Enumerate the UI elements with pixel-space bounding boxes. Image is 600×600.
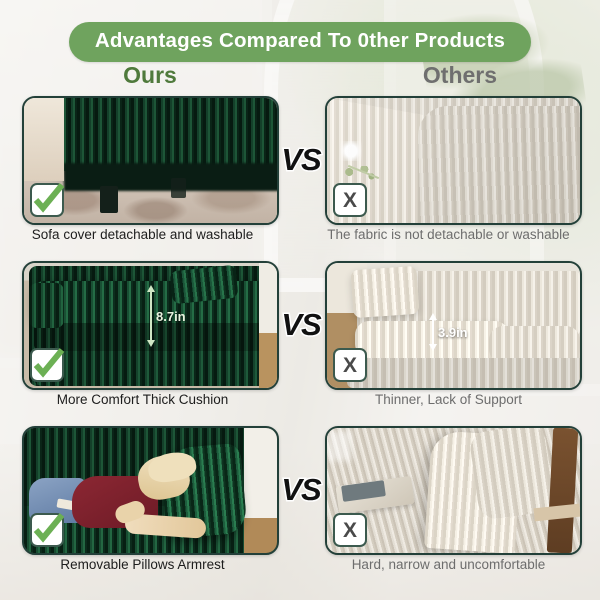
vs-divider: VS xyxy=(278,466,324,512)
ours-image-card xyxy=(22,426,279,555)
vs-label: VS xyxy=(281,309,320,340)
others-image-card: X xyxy=(325,426,582,555)
check-badge xyxy=(30,513,64,547)
column-header-ours: Ours xyxy=(60,62,240,89)
measurement-label: 3.9in xyxy=(438,325,468,340)
vs-label: VS xyxy=(281,474,320,505)
measurement-label: 8.7in xyxy=(156,309,186,324)
ours-caption: More Comfort Thick Cushion xyxy=(16,392,269,408)
check-icon xyxy=(32,350,62,380)
others-image-card: X xyxy=(325,96,582,225)
ours-caption: Sofa cover detachable and washable xyxy=(16,227,269,243)
measurement-ours: 8.7in xyxy=(150,285,186,347)
column-header-others: Others xyxy=(370,62,550,89)
ours-image-card: 8.7in xyxy=(22,261,279,390)
ours-caption: Removable Pillows Armrest xyxy=(16,557,269,573)
check-icon xyxy=(32,515,62,545)
measure-arrow-icon xyxy=(150,285,152,347)
column-headers: Ours Others xyxy=(0,62,600,96)
x-icon: X xyxy=(343,520,357,541)
x-icon: X xyxy=(343,355,357,376)
measurement-others: 3.9in xyxy=(432,313,468,351)
cross-badge: X xyxy=(333,348,367,382)
measure-arrow-icon xyxy=(432,313,434,351)
title-banner: Advantages Compared To 0ther Products xyxy=(69,22,531,62)
vs-label: VS xyxy=(281,144,320,175)
check-badge xyxy=(30,183,64,217)
x-icon: X xyxy=(343,190,357,211)
vs-divider: VS xyxy=(278,136,324,182)
comparison-row: VS X Removable Pillows Armrest Hard, nar… xyxy=(0,426,600,591)
others-caption: The fabric is not detachable or washable xyxy=(322,227,575,243)
others-caption: Thinner, Lack of Support xyxy=(322,392,575,408)
title-banner-wrap: Advantages Compared To 0ther Products xyxy=(0,22,600,62)
vs-divider: VS xyxy=(278,301,324,347)
cross-badge: X xyxy=(333,513,367,547)
comparison-row: 8.7in VS xyxy=(0,261,600,426)
check-badge xyxy=(30,348,64,382)
check-icon xyxy=(32,185,62,215)
ours-image-card xyxy=(22,96,279,225)
cross-badge: X xyxy=(333,183,367,217)
others-caption: Hard, narrow and uncomfortable xyxy=(322,557,575,573)
others-image-card: 3.9in X xyxy=(325,261,582,390)
comparison-row: VS X Sofa cover detachable and washable … xyxy=(0,96,600,261)
